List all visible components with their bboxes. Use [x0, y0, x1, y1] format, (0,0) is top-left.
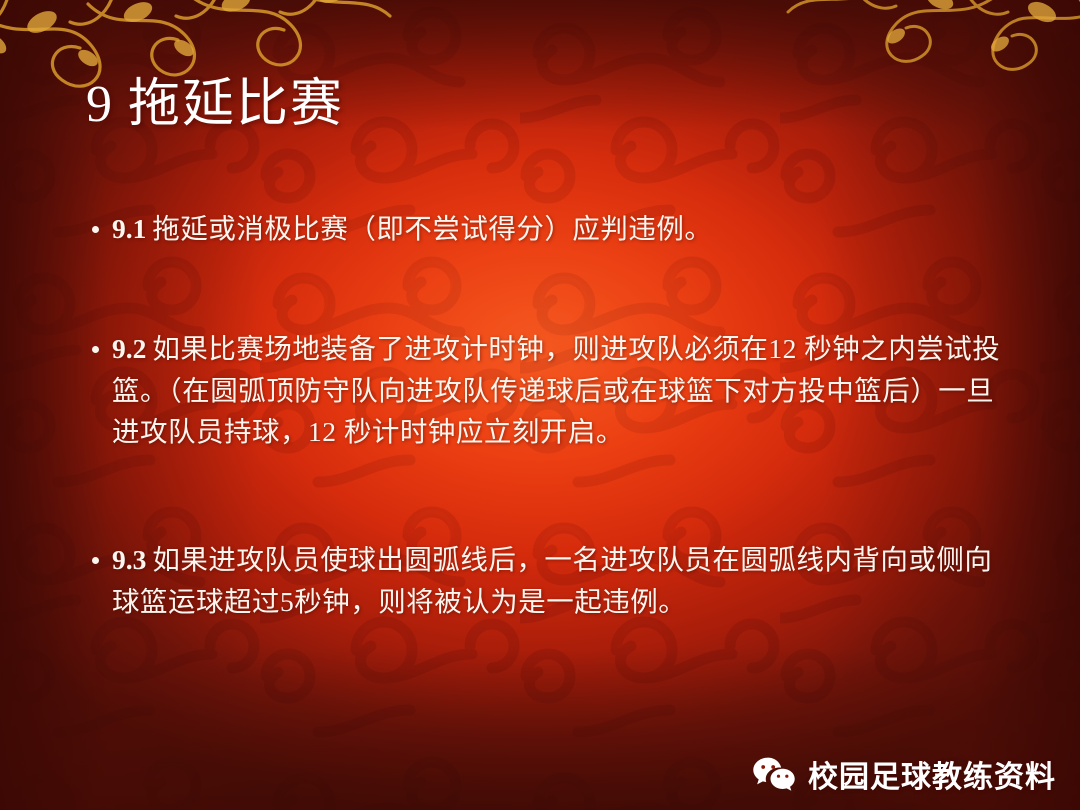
presentation-slide: 9拖延比赛 9.1拖延或消极比赛（即不尝试得分）应判违例。 9.2如果比赛场地装…: [0, 0, 1080, 810]
bullet-item-9-3: 9.3如果进攻队员使球出圆弧线后，一名进攻队员在圆弧线内背向或侧向球篮运球超过5…: [86, 539, 1016, 623]
bullet-item-9-2: 9.2如果比赛场地装备了进攻计时钟，则进攻队必须在12 秒钟之内尝试投篮。（在圆…: [86, 328, 1016, 453]
slide-title-text: 拖延比赛: [128, 76, 344, 133]
slide-title: 9拖延比赛: [86, 74, 344, 136]
bullet-text-9-1: 拖延或消极比赛（即不尝试得分）应判违例。: [152, 213, 712, 244]
bullet-item-9-1: 9.1拖延或消极比赛（即不尝试得分）应判违例。: [86, 208, 1016, 250]
bullet-lead-9-1: 9.1: [112, 213, 146, 244]
bullet-lead-9-2: 9.2: [112, 333, 146, 364]
bullet-lead-9-3: 9.3: [112, 544, 146, 575]
footer-watermark: 校园足球教练资料: [752, 752, 1056, 796]
bullet-text-9-3: 如果进攻队员使球出圆弧线后，一名进攻队员在圆弧线内背向或侧向球篮运球超过5秒钟，…: [112, 544, 992, 617]
slide-title-number: 9: [86, 76, 114, 133]
bullet-text-9-2: 如果比赛场地装备了进攻计时钟，则进攻队必须在12 秒钟之内尝试投篮。（在圆弧顶防…: [112, 333, 1000, 448]
slide-body: 9.1拖延或消极比赛（即不尝试得分）应判违例。 9.2如果比赛场地装备了进攻计时…: [86, 208, 1016, 623]
footer-watermark-text: 校园足球教练资料: [808, 752, 1056, 796]
wechat-icon: [752, 755, 796, 793]
